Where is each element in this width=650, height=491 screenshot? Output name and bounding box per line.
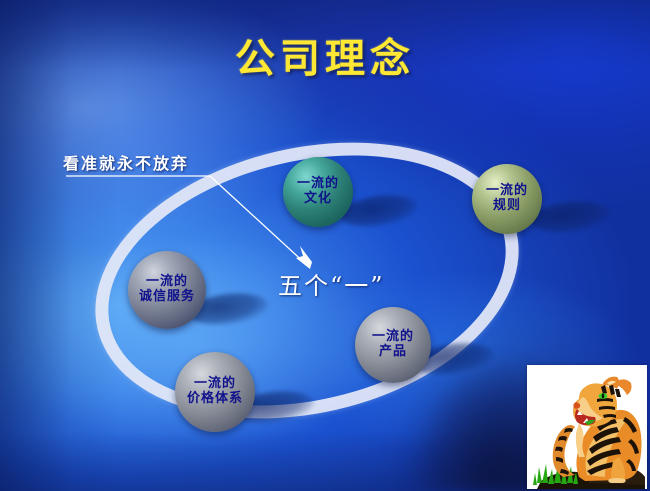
sphere-product-line1: 一流的 bbox=[372, 330, 414, 345]
presentation-slide: 公司理念 一流的 文化 一流的 规则 一流的 诚信服务 一流的 价格体系 一流的… bbox=[0, 0, 650, 491]
sphere-rule[interactable]: 一流的 规则 bbox=[472, 164, 542, 234]
sphere-price-line2: 价格体系 bbox=[187, 392, 243, 407]
sphere-culture[interactable]: 一流的 文化 bbox=[283, 157, 353, 227]
sphere-product[interactable]: 一流的 产品 bbox=[355, 307, 431, 383]
tiger-paw bbox=[608, 478, 625, 483]
sphere-service[interactable]: 一流的 诚信服务 bbox=[128, 251, 206, 329]
sphere-product-line2: 产品 bbox=[379, 345, 407, 360]
sphere-price-line1: 一流的 bbox=[194, 377, 236, 392]
sphere-culture-line1: 一流的 bbox=[297, 177, 339, 192]
sphere-service-line2: 诚信服务 bbox=[139, 290, 195, 305]
center-caption: 五个“一” bbox=[278, 266, 385, 301]
slide-title: 公司理念 bbox=[0, 26, 650, 84]
sphere-rule-line2: 规则 bbox=[493, 199, 521, 214]
sphere-culture-line2: 文化 bbox=[304, 192, 332, 207]
tiger-image-svg bbox=[527, 365, 647, 489]
tiger-pupil bbox=[602, 393, 605, 398]
tiger-illustration bbox=[527, 365, 647, 489]
sphere-service-line1: 一流的 bbox=[146, 275, 188, 290]
sphere-rule-line1: 一流的 bbox=[486, 184, 528, 199]
annotation-label: 看准就永不放弃 bbox=[63, 150, 189, 174]
sphere-price[interactable]: 一流的 价格体系 bbox=[175, 352, 255, 432]
